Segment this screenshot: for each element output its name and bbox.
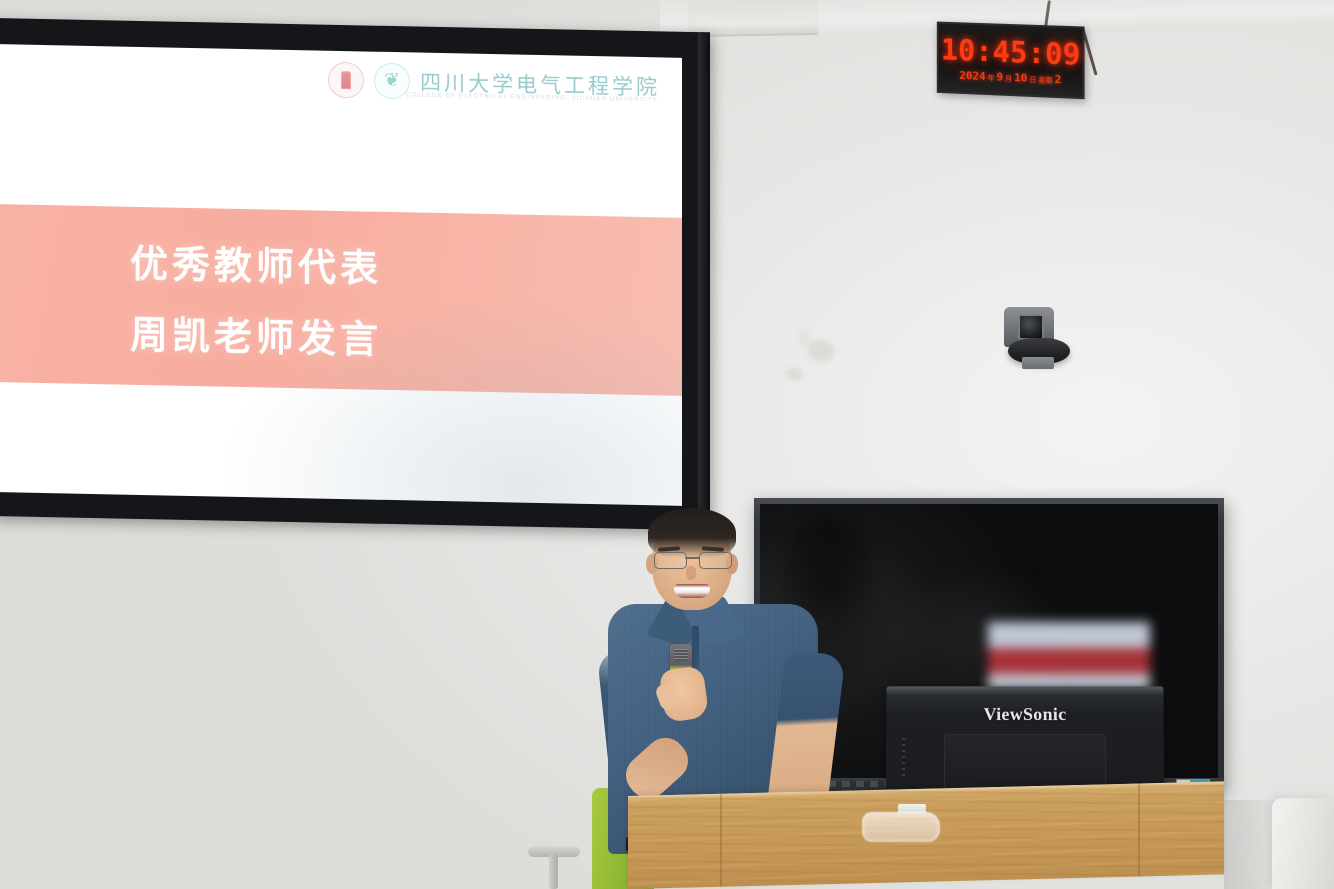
slide-header: ❦ 四川大学电气工程学院 xyxy=(0,44,682,116)
chair-armrest-post xyxy=(549,854,558,889)
slide-title-line-2: 周凯老师发言 xyxy=(130,304,682,370)
clock-weekday-value: 2 xyxy=(1055,73,1062,84)
wall-smudge xyxy=(798,330,810,346)
clock-day: 10 xyxy=(1014,72,1027,84)
clock-month-unit: 月 xyxy=(1005,75,1012,82)
camera-lens-icon xyxy=(1018,314,1044,340)
wall-smudge xyxy=(808,340,834,362)
presenter-mouth xyxy=(674,584,710,598)
podium-seam xyxy=(720,794,722,887)
emblem-glyph: ❦ xyxy=(382,72,402,90)
wall-smudge xyxy=(786,368,802,380)
clock-time-display: 10:45:09 xyxy=(941,35,1081,69)
digital-wall-clock: 10:45:09 2024 年 9 月 10 日 星期 2 xyxy=(937,22,1085,100)
viewsonic-logo: ViewSonic xyxy=(886,704,1164,725)
screen-reflection-slide xyxy=(988,622,1150,690)
clear-plastic-bottle[interactable] xyxy=(862,812,940,842)
clock-month: 9 xyxy=(997,71,1004,82)
clock-weekday-label: 星期 xyxy=(1038,77,1052,85)
monitor-vent xyxy=(902,738,905,780)
sichuan-university-seal-icon xyxy=(328,62,364,99)
electrical-engineering-emblem-icon: ❦ xyxy=(374,63,410,100)
projection-screen[interactable]: ❦ 四川大学电气工程学院 COLLEGE OF ELECTRICAL ENGIN… xyxy=(0,18,710,530)
monitor-top-edge xyxy=(886,686,1163,694)
presentation-slide: ❦ 四川大学电气工程学院 COLLEGE OF ELECTRICAL ENGIN… xyxy=(0,44,682,506)
podium-seam xyxy=(1138,783,1140,876)
screen-right-edge xyxy=(698,32,710,530)
microphone-grill xyxy=(674,649,688,661)
slide-title-line-1: 优秀教师代表 xyxy=(130,233,682,299)
clock-day-unit: 日 xyxy=(1029,76,1036,83)
foreground-white-board xyxy=(1272,798,1334,889)
clock-year-unit: 年 xyxy=(988,75,995,82)
classroom-scene: ❦ 四川大学电气工程学院 COLLEGE OF ELECTRICAL ENGIN… xyxy=(0,0,1334,889)
ptz-camera-wall-mount xyxy=(1022,357,1054,369)
clock-date-display: 2024 年 9 月 10 日 星期 2 xyxy=(959,69,1061,84)
slide-title-band: 优秀教师代表 周凯老师发言 xyxy=(0,204,682,396)
presenter-nose xyxy=(686,566,696,580)
clock-year: 2024 xyxy=(959,69,985,81)
